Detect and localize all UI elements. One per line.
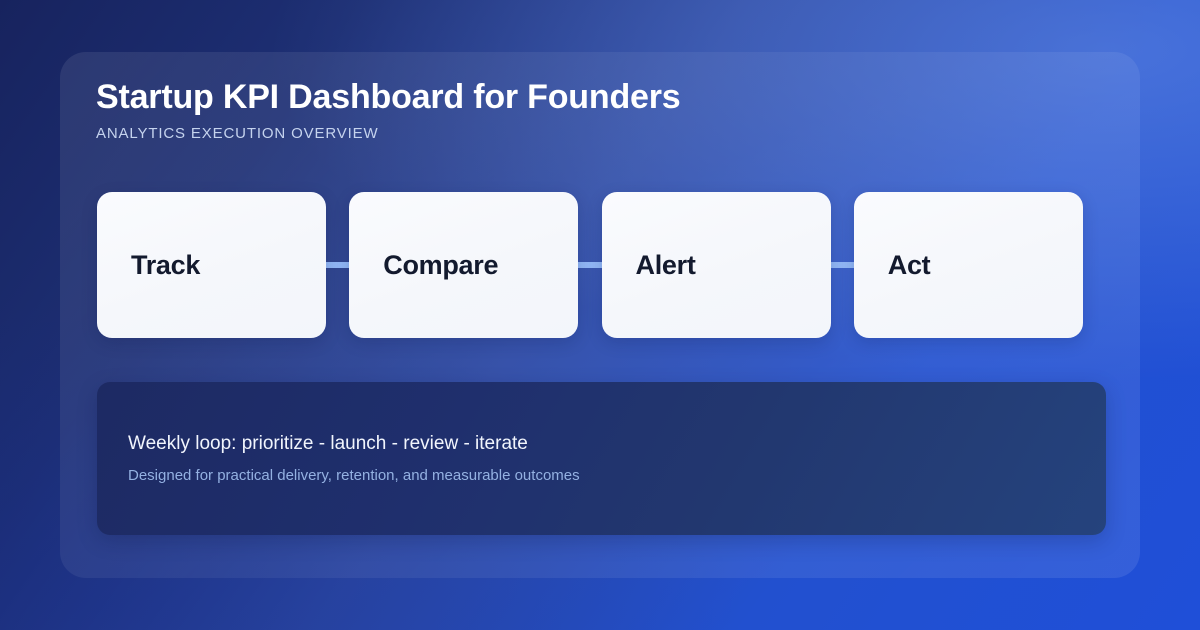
step-connector-1: [326, 262, 349, 268]
step-label-track: Track: [131, 252, 200, 279]
header: Startup KPI Dashboard for Founders ANALY…: [96, 77, 1096, 143]
page-subtitle: ANALYTICS EXECUTION OVERVIEW: [96, 125, 1096, 143]
step-card-track[interactable]: Track: [97, 192, 326, 338]
content-panel: Startup KPI Dashboard for Founders ANALY…: [60, 52, 1140, 578]
process-step-row: Track Compare Alert Act: [97, 192, 1106, 338]
page-title: Startup KPI Dashboard for Founders: [96, 77, 1096, 117]
step-slot-alert: Alert: [602, 192, 854, 338]
step-card-act[interactable]: Act: [854, 192, 1083, 338]
step-label-alert: Alert: [636, 252, 696, 279]
summary-note-panel: Weekly loop: prioritize - launch - revie…: [97, 382, 1106, 535]
note-secondary-text: Designed for practical delivery, retenti…: [128, 467, 1106, 486]
step-connector-2: [578, 262, 601, 268]
step-slot-compare: Compare: [349, 192, 601, 338]
step-slot-track: Track: [97, 192, 349, 338]
step-slot-act: Act: [854, 192, 1106, 338]
step-label-compare: Compare: [383, 252, 498, 279]
slide-canvas: Startup KPI Dashboard for Founders ANALY…: [0, 0, 1200, 630]
step-card-compare[interactable]: Compare: [349, 192, 578, 338]
step-label-act: Act: [888, 252, 931, 279]
step-connector-3: [831, 262, 854, 268]
note-primary-text: Weekly loop: prioritize - launch - revie…: [128, 432, 1106, 456]
step-card-alert[interactable]: Alert: [602, 192, 831, 338]
